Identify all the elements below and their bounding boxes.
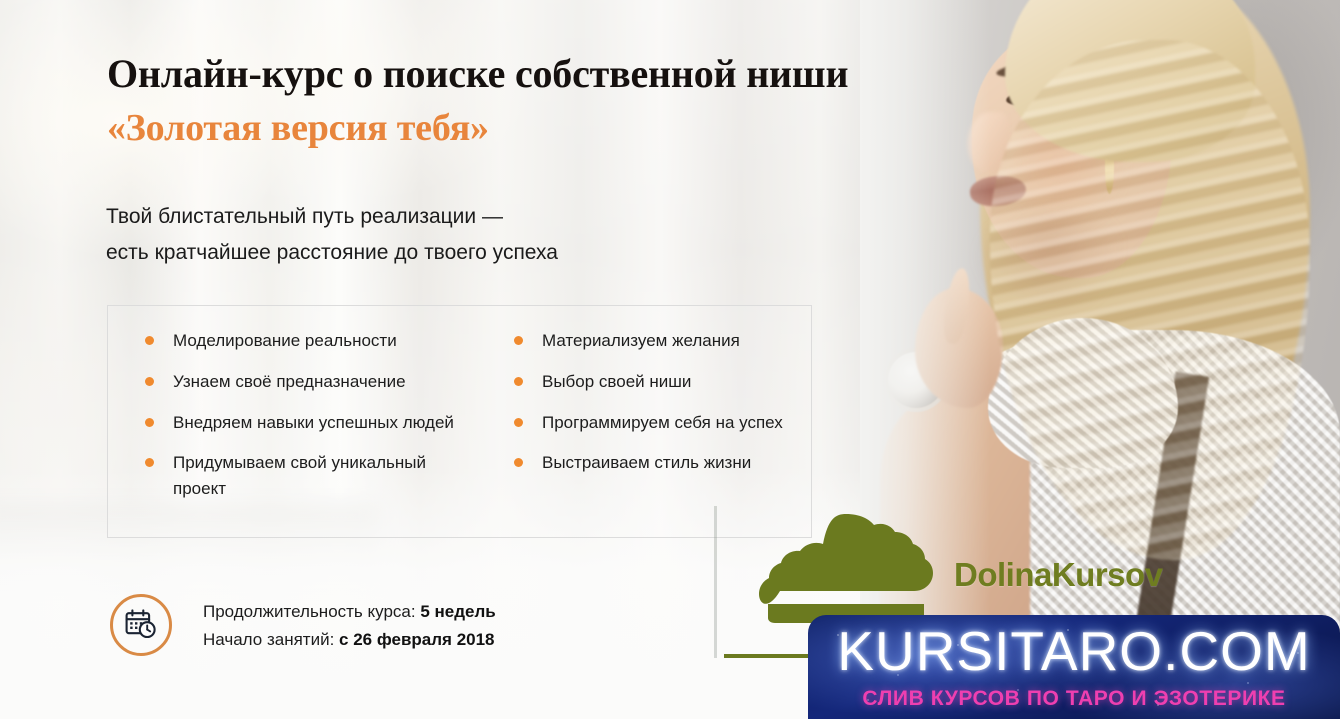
feature-item: Выбор своей ниши: [514, 369, 812, 395]
features-column-left: Моделирование реальности Узнаем своё пре…: [107, 328, 475, 538]
page-title: Онлайн-курс о поиске собственной ниши: [107, 52, 937, 95]
tagline-line-2: есть кратчайшее расстояние до твоего усп…: [106, 235, 866, 271]
feature-item-label: Выбор своей ниши: [542, 372, 691, 391]
feature-item-label: Материализуем желания: [542, 331, 740, 350]
feature-item: Внедряем навыки успешных людей: [145, 410, 475, 436]
calendar-clock-icon: [110, 594, 172, 656]
feature-item-label: Придумываем свой уникальный проект: [173, 453, 426, 498]
course-start-value: с 26 февраля 2018: [339, 630, 494, 649]
tagline: Твой блистательный путь реализации — ест…: [106, 199, 866, 271]
course-start-label: Начало занятий:: [203, 630, 334, 649]
feature-item-label: Программируем себя на успех: [542, 413, 783, 432]
bullet-dot-icon: [514, 377, 523, 386]
bullet-dot-icon: [145, 418, 154, 427]
feature-item-label: Узнаем своё предназначение: [173, 372, 406, 391]
bullet-dot-icon: [145, 377, 154, 386]
kursitaro-banner-subtitle: СЛИВ КУРСОВ ПО ТАРО И ЭЗОТЕРИКЕ: [808, 687, 1340, 711]
feature-item: Узнаем своё предназначение: [145, 369, 475, 395]
bullet-dot-icon: [514, 458, 523, 467]
course-duration-value: 5 недель: [420, 602, 495, 621]
features-column-right: Материализуем желания Выбор своей ниши П…: [475, 328, 812, 538]
course-poster: Онлайн-курс о поиске собственной ниши «З…: [0, 0, 1340, 719]
schedule-text: Продолжительность курса: 5 недель Начало…: [203, 598, 496, 653]
tagline-line-1: Твой блистательный путь реализации —: [106, 199, 866, 235]
feature-item-label: Выстраиваем стиль жизни: [542, 453, 751, 472]
bullet-dot-icon: [514, 418, 523, 427]
feature-item: Моделирование реальности: [145, 328, 475, 354]
course-start-row: Начало занятий: с 26 февраля 2018: [203, 626, 496, 654]
feature-item: Материализуем желания: [514, 328, 812, 354]
kursitaro-banner-title: KURSITARO.COM: [808, 619, 1340, 683]
bullet-dot-icon: [514, 336, 523, 345]
course-duration-label: Продолжительность курса:: [203, 602, 416, 621]
kursitaro-watermark-banner: KURSITARO.COM СЛИВ КУРСОВ ПО ТАРО И ЭЗОТ…: [808, 615, 1340, 719]
features-columns: Моделирование реальности Узнаем своё пре…: [107, 305, 812, 538]
bullet-dot-icon: [145, 458, 154, 467]
course-duration-row: Продолжительность курса: 5 недель: [203, 598, 496, 626]
feature-item: Придумываем свой уникальный проект: [145, 450, 475, 502]
page-subtitle-accent: «Золотая версия тебя»: [107, 108, 937, 149]
bullet-dot-icon: [145, 336, 154, 345]
feature-item: Выстраиваем стиль жизни: [514, 450, 812, 476]
feature-item: Программируем себя на успех: [514, 410, 812, 436]
feature-item-label: Внедряем навыки успешных людей: [173, 413, 454, 432]
feature-item-label: Моделирование реальности: [173, 331, 397, 350]
